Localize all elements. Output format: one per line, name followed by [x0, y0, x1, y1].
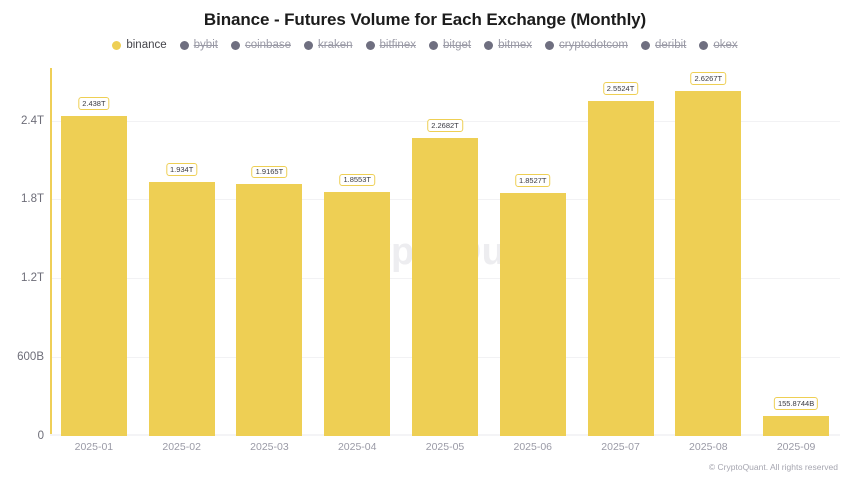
bar-value-label: 1.9165T — [252, 166, 288, 179]
bar-value-label: 1.934T — [166, 163, 197, 176]
bar-group: 155.8744B — [752, 68, 840, 436]
x-axis-tick-label: 2025-07 — [601, 441, 640, 453]
legend-item-label: coinbase — [245, 39, 291, 51]
y-axis-tick-label: 1.8T — [0, 193, 44, 205]
legend-item-label: kraken — [318, 39, 353, 51]
bar-value-label: 2.438T — [78, 97, 109, 110]
y-axis-tick-label: 600B — [0, 351, 44, 363]
plot-area: CryptoQuant 2.438T1.934T1.9165T1.8553T2.… — [50, 68, 840, 436]
legend-item-coinbase[interactable]: coinbase — [231, 39, 291, 51]
legend-item-bitmex[interactable]: bitmex — [484, 39, 532, 51]
legend-dot-icon — [304, 41, 313, 50]
bar-value-label: 2.6267T — [691, 72, 727, 85]
legend-dot-icon — [641, 41, 650, 50]
legend-item-bitfinex[interactable]: bitfinex — [366, 39, 416, 51]
legend-dot-icon — [429, 41, 438, 50]
bar-group: 1.8527T — [489, 68, 577, 436]
legend-item-label: bitget — [443, 39, 471, 51]
bar-value-label: 2.5524T — [603, 82, 639, 95]
bar-group: 2.5524T — [577, 68, 665, 436]
legend-dot-icon — [180, 41, 189, 50]
x-axis-tick-label: 2025-02 — [162, 441, 201, 453]
legend-item-label: bybit — [194, 39, 218, 51]
bar[interactable] — [61, 116, 127, 436]
bar-group: 2.2682T — [401, 68, 489, 436]
bar[interactable] — [149, 182, 215, 436]
bar-value-label: 1.8553T — [339, 174, 375, 187]
y-axis-labels: 0600B1.2T1.8T2.4T — [0, 68, 44, 436]
x-axis-tick-label: 2025-08 — [689, 441, 728, 453]
legend-item-cryptodotcom[interactable]: cryptodotcom — [545, 39, 628, 51]
legend-item-deribit[interactable]: deribit — [641, 39, 686, 51]
x-axis-tick-label: 2025-05 — [426, 441, 465, 453]
x-axis-tick-label: 2025-03 — [250, 441, 289, 453]
footer-copyright: © CryptoQuant. All rights reserved — [709, 462, 838, 472]
bar-value-label: 2.2682T — [427, 119, 463, 132]
legend-item-kraken[interactable]: kraken — [304, 39, 353, 51]
bar-series-binance: 2.438T1.934T1.9165T1.8553T2.2682T1.8527T… — [50, 68, 840, 436]
y-axis-tick-label: 2.4T — [0, 115, 44, 127]
bar-group: 1.8553T — [313, 68, 401, 436]
legend-item-okex[interactable]: okex — [699, 39, 737, 51]
legend-item-label: cryptodotcom — [559, 39, 628, 51]
legend-dot-icon — [484, 41, 493, 50]
x-axis-tick-label: 2025-06 — [513, 441, 552, 453]
legend-dot-icon — [112, 41, 121, 50]
chart-legend: binancebybitcoinbasekrakenbitfinexbitget… — [0, 39, 850, 51]
chart-container: Binance - Futures Volume for Each Exchan… — [0, 0, 850, 478]
bar[interactable] — [324, 192, 390, 436]
legend-item-bitget[interactable]: bitget — [429, 39, 471, 51]
legend-item-binance[interactable]: binance — [112, 39, 166, 51]
x-axis-tick-label: 2025-04 — [338, 441, 377, 453]
legend-item-bybit[interactable]: bybit — [180, 39, 218, 51]
bar[interactable] — [763, 416, 829, 436]
bar-value-label: 155.8744B — [774, 397, 818, 410]
y-axis-tick-label: 1.2T — [0, 272, 44, 284]
bar[interactable] — [675, 91, 741, 436]
page-title: Binance - Futures Volume for Each Exchan… — [0, 10, 850, 30]
bar[interactable] — [236, 184, 302, 436]
bar-group: 2.6267T — [664, 68, 752, 436]
bar-group: 1.934T — [138, 68, 226, 436]
bar[interactable] — [500, 193, 566, 436]
x-axis-tick-label: 2025-01 — [75, 441, 114, 453]
bar[interactable] — [588, 101, 654, 436]
legend-dot-icon — [699, 41, 708, 50]
legend-dot-icon — [545, 41, 554, 50]
legend-dot-icon — [231, 41, 240, 50]
legend-dot-icon — [366, 41, 375, 50]
bar[interactable] — [412, 138, 478, 436]
x-axis-labels: 2025-012025-022025-032025-042025-052025-… — [50, 441, 840, 457]
x-axis-tick-label: 2025-09 — [777, 441, 816, 453]
bar-value-label: 1.8527T — [515, 174, 551, 187]
bar-group: 1.9165T — [226, 68, 314, 436]
legend-item-label: binance — [126, 39, 166, 51]
legend-item-label: deribit — [655, 39, 686, 51]
legend-item-label: okex — [713, 39, 737, 51]
y-axis-tick-label: 0 — [0, 430, 44, 442]
bar-group: 2.438T — [50, 68, 138, 436]
legend-item-label: bitmex — [498, 39, 532, 51]
legend-item-label: bitfinex — [380, 39, 416, 51]
